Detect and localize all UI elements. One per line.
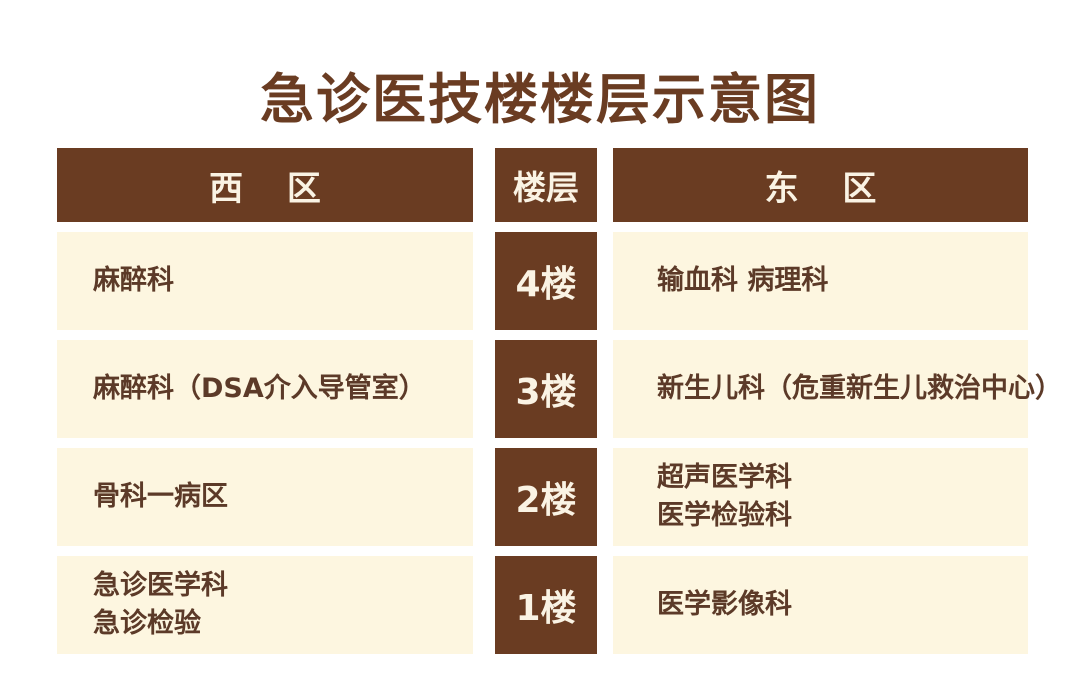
column-gap: [473, 340, 495, 438]
column-gap: [597, 148, 613, 222]
west-zone-line: 麻醉科（DSA介入导管室）: [93, 370, 455, 408]
floor-directory-table: 西 区 楼层 东 区 麻醉科4楼输血科 病理科麻醉科（DSA介入导管室）3楼新生…: [57, 148, 1028, 654]
header-cell-floor: 楼层: [495, 148, 597, 222]
west-zone-line: 急诊医学科: [93, 567, 455, 605]
floor-directory-page: 急诊医技楼楼层示意图 西 区 楼层 东 区 麻醉科4楼输血科 病理科麻醉科（DS…: [0, 0, 1080, 694]
west-zone-line: 骨科一病区: [93, 478, 455, 516]
column-gap: [597, 448, 613, 546]
east-zone-line: 新生儿科（危重新生儿救治中心）: [657, 370, 1010, 408]
column-gap: [473, 232, 495, 330]
table-header-row: 西 区 楼层 东 区: [57, 148, 1028, 222]
floor-number-cell: 4楼: [495, 232, 597, 330]
page-title: 急诊医技楼楼层示意图: [260, 70, 820, 129]
table-row: 急诊医学科急诊检验1楼医学影像科: [57, 556, 1028, 654]
column-gap: [473, 148, 495, 222]
page-title-container: 急诊医技楼楼层示意图: [0, 34, 1080, 166]
column-gap: [597, 232, 613, 330]
east-zone-cell: 输血科 病理科: [613, 232, 1028, 330]
east-zone-line: 医学检验科: [657, 497, 1010, 535]
header-cell-west-zone: 西 区: [57, 148, 473, 222]
table-body: 麻醉科4楼输血科 病理科麻醉科（DSA介入导管室）3楼新生儿科（危重新生儿救治中…: [57, 232, 1028, 654]
east-zone-cell: 医学影像科: [613, 556, 1028, 654]
table-row: 麻醉科（DSA介入导管室）3楼新生儿科（危重新生儿救治中心）: [57, 340, 1028, 438]
floor-number-cell: 2楼: [495, 448, 597, 546]
west-zone-cell: 麻醉科: [57, 232, 473, 330]
floor-number-cell: 3楼: [495, 340, 597, 438]
west-zone-cell: 麻醉科（DSA介入导管室）: [57, 340, 473, 438]
column-gap: [597, 340, 613, 438]
floor-number-cell: 1楼: [495, 556, 597, 654]
east-zone-cell: 新生儿科（危重新生儿救治中心）: [613, 340, 1028, 438]
column-gap: [597, 556, 613, 654]
west-zone-line: 急诊检验: [93, 605, 455, 643]
header-cell-east-zone: 东 区: [613, 148, 1028, 222]
table-row: 骨科一病区2楼超声医学科医学检验科: [57, 448, 1028, 546]
east-zone-cell: 超声医学科医学检验科: [613, 448, 1028, 546]
west-zone-cell: 急诊医学科急诊检验: [57, 556, 473, 654]
east-zone-line: 输血科 病理科: [657, 262, 1010, 300]
west-zone-line: 麻醉科: [93, 262, 455, 300]
column-gap: [473, 448, 495, 546]
west-zone-cell: 骨科一病区: [57, 448, 473, 546]
column-gap: [473, 556, 495, 654]
table-row: 麻醉科4楼输血科 病理科: [57, 232, 1028, 330]
east-zone-line: 医学影像科: [657, 586, 1010, 624]
east-zone-line: 超声医学科: [657, 459, 1010, 497]
